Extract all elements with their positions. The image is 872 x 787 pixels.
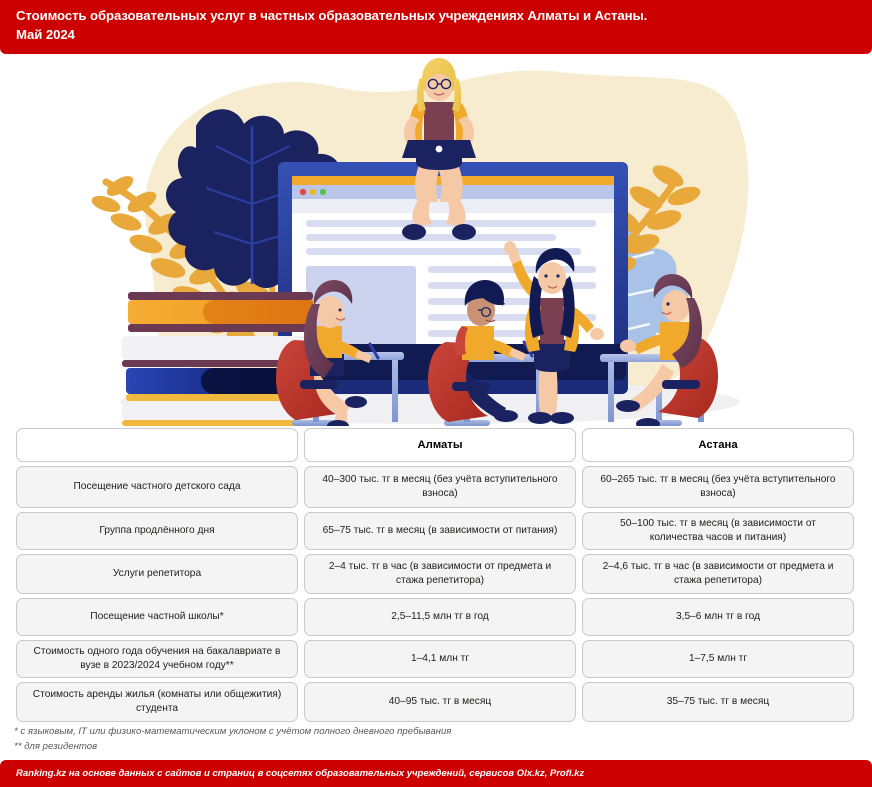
table-row: 35–75 тыс. тг в месяц	[582, 682, 854, 722]
table-row: 65–75 тыс. тг в месяц (в зависимости от …	[304, 512, 576, 550]
table-row: 40–300 тыс. тг в месяц (без учёта вступи…	[304, 466, 576, 508]
footnotes: * с языковым, IT или физико-математическ…	[14, 724, 854, 754]
header-bar: Стоимость образовательных услуг в частны…	[0, 0, 872, 54]
footnote-double-asterisk: ** для резидентов	[14, 739, 854, 754]
table-row: Посещение частной школы*	[16, 598, 298, 636]
browser-dot-yellow	[310, 189, 316, 195]
table-row: 2–4,6 тыс. тг в час (в зависимости от пр…	[582, 554, 854, 594]
table-header-astana: Астана	[582, 428, 854, 462]
table-row: 1–7,5 млн тг	[582, 640, 854, 678]
table-header-almaty: Алматы	[304, 428, 576, 462]
raised-hand	[504, 241, 516, 255]
shoe	[452, 224, 476, 240]
table-row: Стоимость аренды жилья (комнаты или обще…	[16, 682, 298, 722]
table-header-blank	[16, 428, 298, 462]
table-row: Услуги репетитора	[16, 554, 298, 594]
table-row: 1–4,1 млн тг	[304, 640, 576, 678]
table-row: 3,5–6 млн тг в год	[582, 598, 854, 636]
price-table: Посещение частного детского сада Группа …	[16, 428, 856, 722]
browser-dot-red	[300, 189, 306, 195]
page-title: Стоимость образовательных услуг в частны…	[16, 7, 856, 44]
shoe	[616, 400, 640, 412]
table-column-astana: Астана 60–265 тыс. тг в месяц (без учёта…	[582, 428, 854, 722]
table-row: 40–95 тыс. тг в месяц	[304, 682, 576, 722]
shoe	[402, 224, 426, 240]
browser-dot-green	[320, 189, 326, 195]
table-row: 2,5–11,5 млн тг в год	[304, 598, 576, 636]
table-row: 2–4 тыс. тг в час (в зависимости от пред…	[304, 554, 576, 594]
source-attribution: Ranking.kz на основе данных с сайтов и с…	[16, 768, 584, 779]
footer-bar: Ranking.kz на основе данных с сайтов и с…	[0, 760, 872, 787]
table-row: 50–100 тыс. тг в месяц (в зависимости от…	[582, 512, 854, 550]
open-hand	[620, 340, 636, 353]
table-row: Группа продлённого дня	[16, 512, 298, 550]
students-studying-illustration	[0, 54, 872, 426]
table-row: Посещение частного детского сада	[16, 466, 298, 508]
shoe	[528, 412, 552, 424]
shoe	[550, 412, 574, 424]
table-row: Стоимость одного года обучения на бакала…	[16, 640, 298, 678]
shoe	[345, 396, 367, 408]
table-column-almaty: Алматы 40–300 тыс. тг в месяц (без учёта…	[304, 428, 576, 722]
table-row: 60–265 тыс. тг в месяц (без учёта вступи…	[582, 466, 854, 508]
open-hand	[590, 328, 604, 340]
footnote-asterisk: * с языковым, IT или физико-математическ…	[14, 724, 854, 739]
shoe	[494, 410, 518, 422]
table-column-labels: Посещение частного детского сада Группа …	[16, 428, 298, 722]
